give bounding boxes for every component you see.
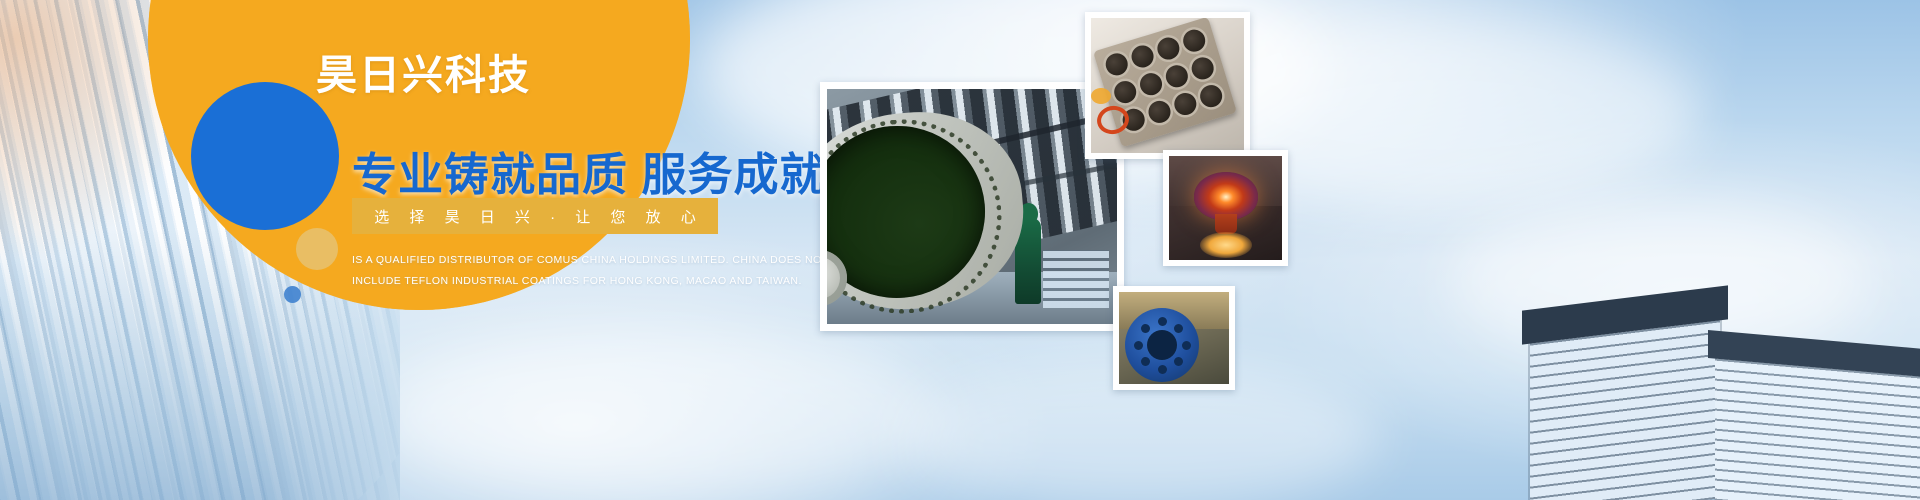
tray-cup xyxy=(1103,51,1130,78)
caption-line-1: IS A QUALIFIED DISTRIBUTOR OF COMUS CHIN… xyxy=(352,250,752,271)
lamp-bulb xyxy=(1194,172,1258,220)
blue-flange-photo xyxy=(1113,286,1235,390)
muffin-tray-photo xyxy=(1085,12,1250,159)
factory-vessel-photo xyxy=(820,82,1124,331)
factory-vessel-photo-inner xyxy=(827,89,1117,324)
tan-dot-decor xyxy=(296,228,338,270)
flange-bolt-hole xyxy=(1182,341,1191,350)
cloud-shape xyxy=(380,330,940,500)
tagline-bar: 选 择 昊 日 兴 · 让 您 放 心 xyxy=(352,198,718,234)
factory-window xyxy=(1043,250,1109,308)
blue-flange-ring xyxy=(1125,308,1199,382)
caption-line-2: INCLUDE TEFLON INDUSTRIAL COATINGS FOR H… xyxy=(352,271,752,292)
tray-cup xyxy=(1137,70,1164,97)
tray-cup xyxy=(1189,55,1216,82)
lamp-glow xyxy=(1200,232,1252,258)
tray-cup xyxy=(1197,82,1224,109)
promo-banner: 昊日兴科技 专业铸就品质 服务成就辉煌 选 择 昊 日 兴 · 让 您 放 心 … xyxy=(0,0,1920,500)
blue-flange-photo-inner xyxy=(1119,292,1229,384)
tray-cup xyxy=(1129,43,1156,70)
caption-block: IS A QUALIFIED DISTRIBUTOR OF COMUS CHIN… xyxy=(352,250,752,292)
tagline-text: 选 择 昊 日 兴 · 让 您 放 心 xyxy=(366,206,704,227)
tray-cup xyxy=(1180,27,1207,54)
flange-center-hole xyxy=(1147,330,1177,360)
tray-cup xyxy=(1172,90,1199,117)
flange-bolt-hole xyxy=(1158,317,1167,326)
tray-cup xyxy=(1163,63,1190,90)
flange-bolt-hole xyxy=(1174,324,1183,333)
blue-dot-decor xyxy=(284,286,301,303)
flange-bolt-hole xyxy=(1158,365,1167,374)
skyscraper-image xyxy=(1500,270,1920,500)
flange-bolt-hole xyxy=(1141,324,1150,333)
muffin-tray-photo-inner xyxy=(1091,18,1244,153)
blue-circle-decor xyxy=(191,82,339,230)
orange-ring-decor xyxy=(1091,88,1111,104)
lamp-neck xyxy=(1215,214,1237,234)
tray-cup xyxy=(1111,78,1138,105)
tray-cup xyxy=(1155,35,1182,62)
flange-bolt-hole xyxy=(1134,341,1143,350)
red-lamp-photo-inner xyxy=(1169,156,1282,260)
tray-cup xyxy=(1146,98,1173,125)
brand-name: 昊日兴科技 xyxy=(316,55,531,96)
red-lamp-photo xyxy=(1163,150,1288,266)
flange-bolt-hole xyxy=(1174,357,1183,366)
flange-bolt-hole xyxy=(1141,357,1150,366)
